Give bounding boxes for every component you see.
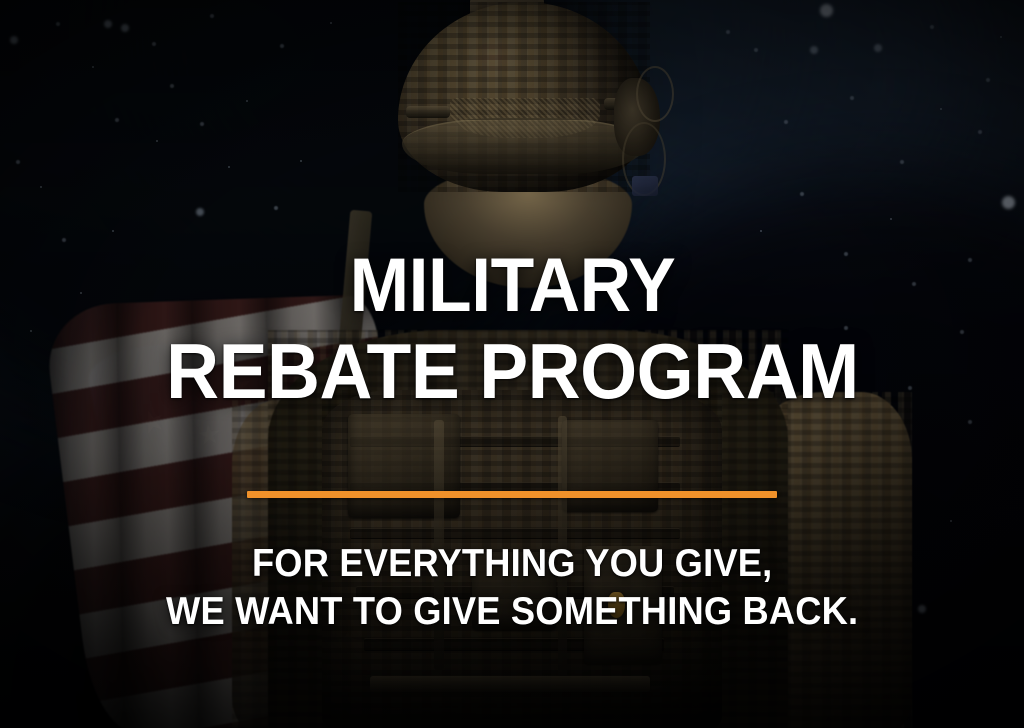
headline-line-1: MILITARY xyxy=(166,249,859,323)
banner-content: MILITARY REBATE PROGRAM FOR EVERYTHING Y… xyxy=(0,0,1024,728)
subtitle-line-1: FOR EVERYTHING YOU GIVE, xyxy=(166,540,858,588)
accent-divider xyxy=(247,491,777,498)
headline-line-2: REBATE PROGRAM xyxy=(166,333,859,409)
page-title: MILITARY REBATE PROGRAM xyxy=(166,51,859,410)
military-rebate-banner: MILITARY REBATE PROGRAM FOR EVERYTHING Y… xyxy=(0,0,1024,728)
subtitle: FOR EVERYTHING YOU GIVE, WE WANT TO GIVE… xyxy=(166,540,858,637)
subtitle-line-2: WE WANT TO GIVE SOMETHING BACK. xyxy=(166,588,858,636)
